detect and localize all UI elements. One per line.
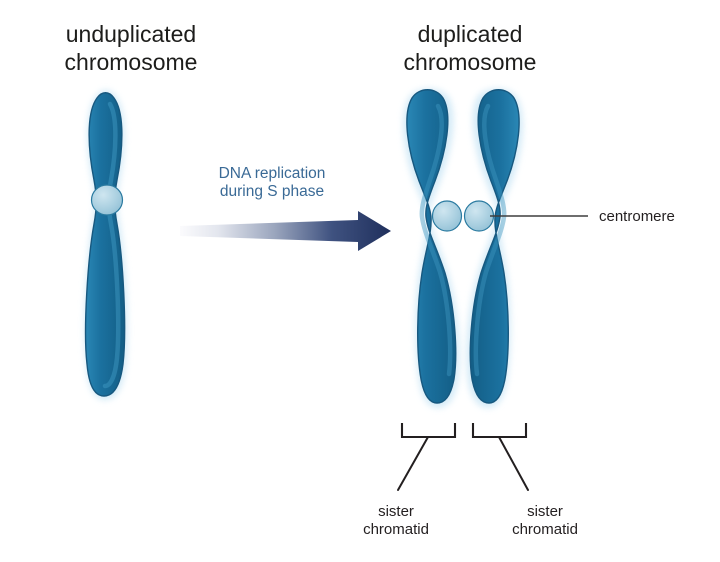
- dna-replication-arrow: [180, 211, 391, 251]
- centromere-unduplicated: [92, 185, 123, 215]
- centromere-label: centromere: [599, 208, 675, 225]
- sister-chromatid-right-callout: sister chromatid: [473, 423, 578, 538]
- arrow-shape: [180, 211, 391, 251]
- centromere-callout: centromere: [490, 208, 675, 225]
- sister-chromatid-left-label-line1: sister: [378, 503, 414, 520]
- centromere-left: [433, 201, 462, 231]
- sister-chromatid-left-callout: sister chromatid: [363, 423, 455, 538]
- sister-chromatid-left-label-line2: chromatid: [363, 521, 429, 538]
- title-left-line1: unduplicated: [66, 21, 196, 47]
- sister-chromatid-right-label-line1: sister: [527, 503, 563, 520]
- centromere-right: [465, 201, 494, 231]
- title-right-line1: duplicated: [418, 21, 523, 47]
- bracket-left: [402, 423, 455, 437]
- sister-chromatid-right-label-line2: chromatid: [512, 521, 578, 538]
- title-left-line2: chromosome: [65, 49, 198, 75]
- duplicated-chromosome-graphic: [403, 89, 523, 409]
- bracket-left-leader: [398, 437, 428, 490]
- bracket-right-leader: [499, 437, 528, 490]
- arrow-label-line1: DNA replication: [219, 165, 326, 182]
- bracket-right: [473, 423, 526, 437]
- arrow-label-line2: during S phase: [220, 183, 324, 200]
- duplicated-chromosome-title: duplicated chromosome: [404, 21, 537, 75]
- title-right-line2: chromosome: [404, 49, 537, 75]
- diagram-canvas: unduplicated chromosome duplicated chrom…: [0, 0, 720, 562]
- chromosome-duplication-diagram: unduplicated chromosome duplicated chrom…: [0, 0, 720, 562]
- arrow-label: DNA replication during S phase: [219, 165, 326, 200]
- unduplicated-chromosome-title: unduplicated chromosome: [65, 21, 198, 75]
- unduplicated-chromosome-graphic: [84, 90, 127, 400]
